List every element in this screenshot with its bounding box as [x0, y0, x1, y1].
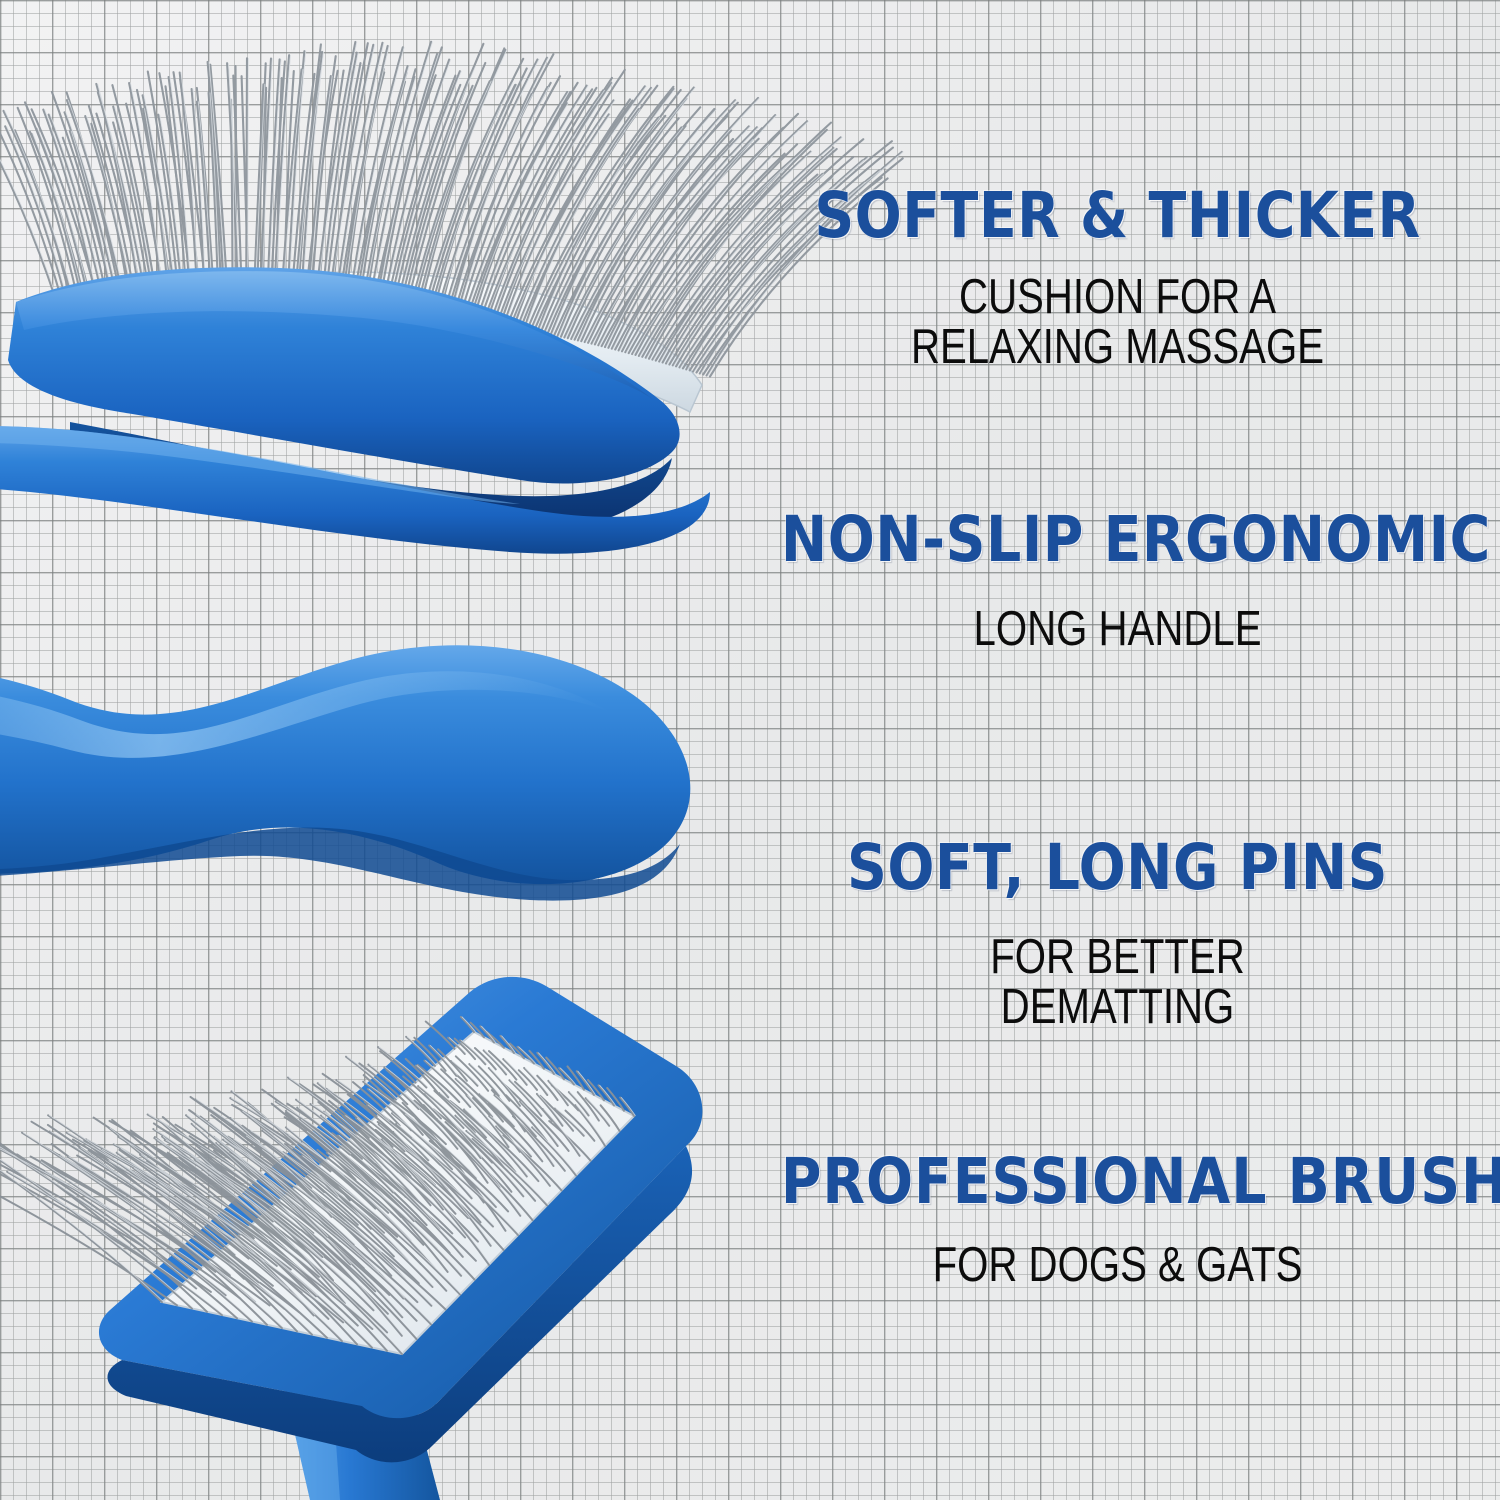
feature-copy-column: SOFTER & THICKER CUSHION FOR A RELAXING … [735, 0, 1500, 1500]
feature-headline-non-slip-ergonomic: NON-SLIP ERGONOMIC [781, 510, 1454, 569]
feature-block-softer-thicker: SOFTER & THICKER CUSHION FOR A RELAXING … [735, 186, 1500, 373]
feature-block-soft-long-pins: SOFT, LONG PINS FOR BETTER DEMATTING [735, 838, 1500, 1033]
feature-subtext-soft-long-pins: FOR BETTER DEMATTING [804, 933, 1431, 1033]
feature-subtext-softer-thicker: CUSHION FOR A RELAXING MASSAGE [804, 273, 1431, 373]
feature-headline-soft-long-pins: SOFT, LONG PINS [781, 838, 1454, 897]
feature-block-non-slip-ergonomic: NON-SLIP ERGONOMIC LONG HANDLE [735, 510, 1500, 655]
product-image-top-brush-head [0, 40, 820, 560]
feature-headline-professional-brush: PROFESSIONAL BRUSH [781, 1152, 1454, 1211]
feature-block-professional-brush: PROFESSIONAL BRUSH FOR DOGS & GATS [735, 1152, 1500, 1291]
product-image-bottom-brush [40, 930, 780, 1500]
feature-subtext-non-slip-ergonomic: LONG HANDLE [804, 605, 1431, 655]
feature-subtext-professional-brush: FOR DOGS & GATS [804, 1241, 1431, 1291]
feature-headline-softer-thicker: SOFTER & THICKER [781, 186, 1454, 245]
infographic-canvas: SOFTER & THICKER CUSHION FOR A RELAXING … [0, 0, 1500, 1500]
product-image-ergonomic-handle [0, 630, 800, 920]
